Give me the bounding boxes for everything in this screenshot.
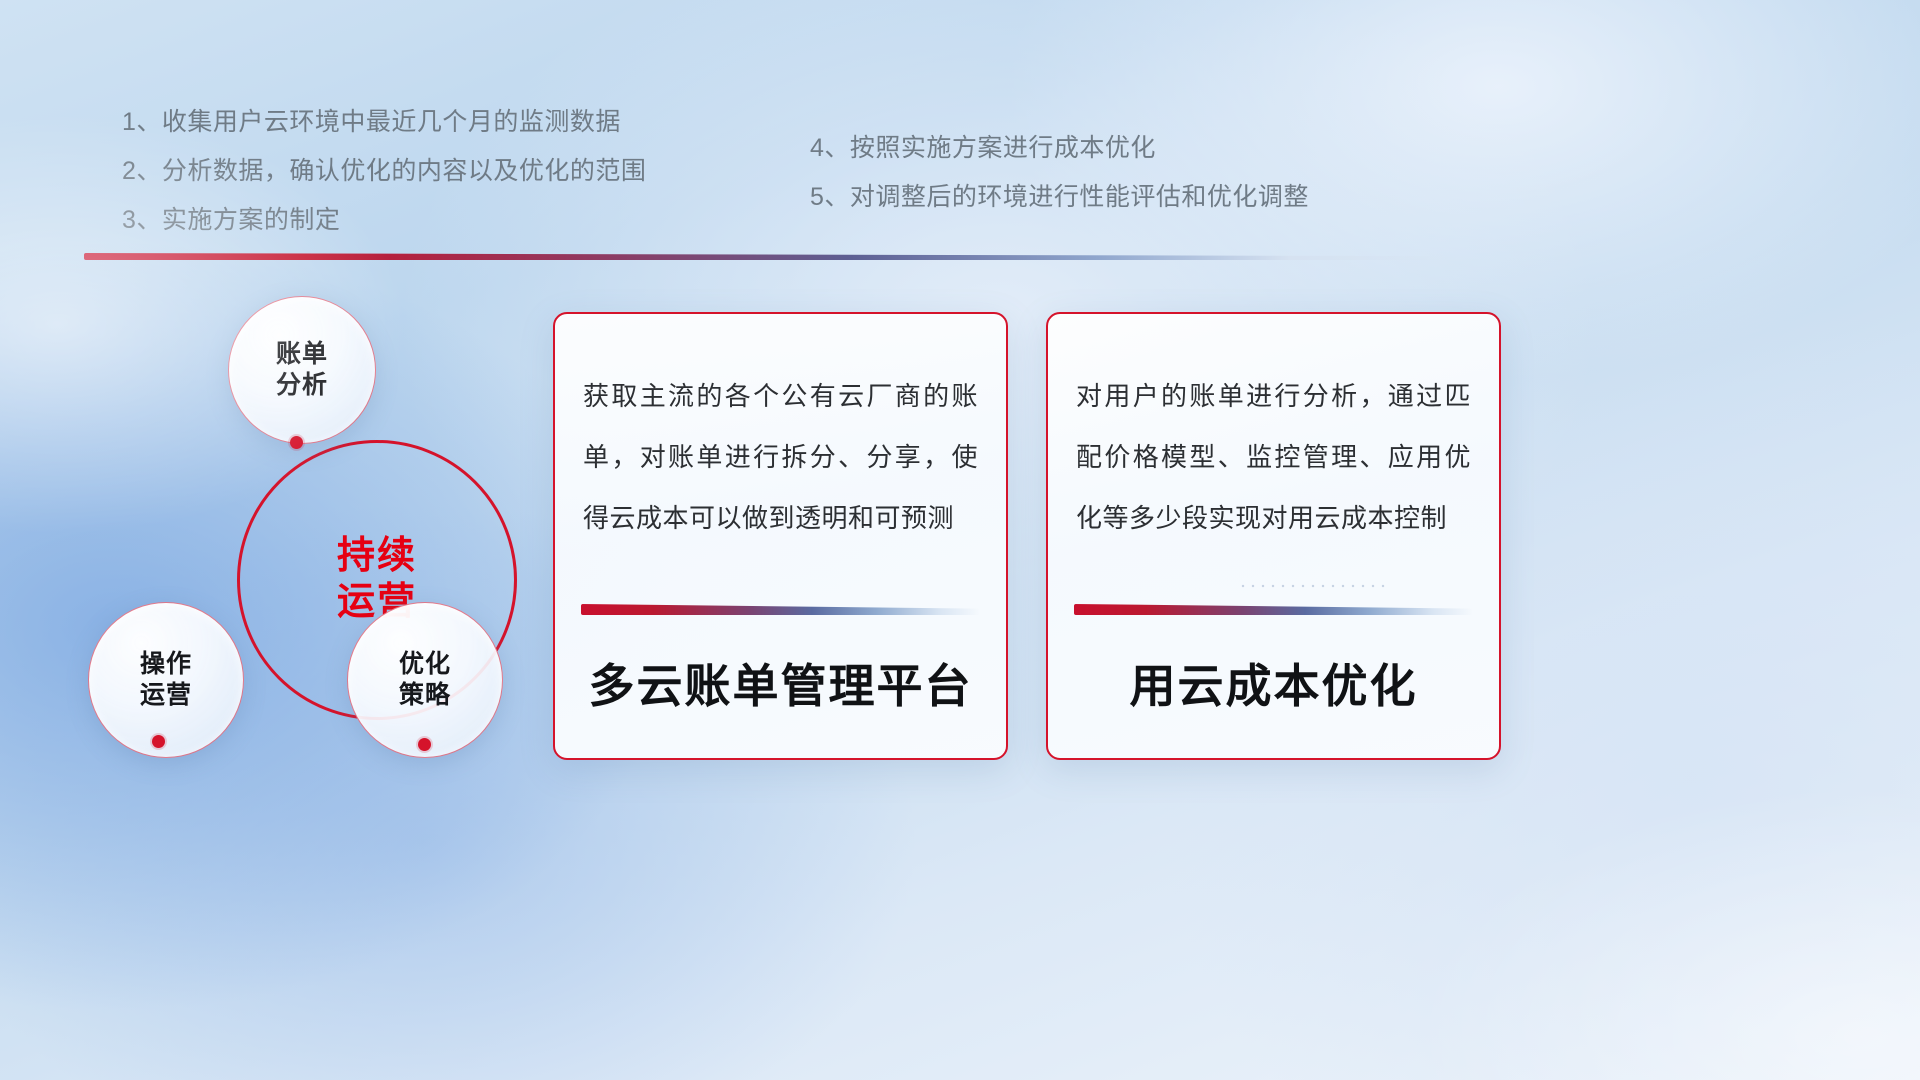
bullet-item-1: 1、收集用户云环境中最近几个月的监测数据 (122, 98, 646, 147)
card-body-text: 获取主流的各个公有云厂商的账单，对账单进行拆分、分享，使得云成本可以做到透明和可… (583, 366, 978, 549)
bullet-item-2: 2、分析数据，确认优化的内容以及优化的范围 (122, 147, 646, 196)
bullet-list-left: 1、收集用户云环境中最近几个月的监测数据 2、分析数据，确认优化的内容以及优化的… (122, 98, 646, 244)
card-divider (1074, 604, 1473, 615)
venn-bubble-bill-analysis[interactable]: 账单 分析 (228, 296, 376, 444)
venn-bubble-optimization-policy[interactable]: 优化 策略 (347, 602, 503, 758)
card-body-text: 对用户的账单进行分析，通过匹配价格模型、监控管理、应用优化等多少段实现对用云成本… (1076, 366, 1471, 549)
connector-dot-top (290, 436, 303, 449)
bullet-list-right: 4、按照实施方案进行成本优化 5、对调整后的环境进行性能评估和优化调整 (810, 124, 1309, 222)
card-title-text: 用云成本优化 (1048, 650, 1499, 716)
bullet-item-4: 4、按照实施方案进行成本优化 (810, 124, 1309, 173)
bubble-label-line-2: 分析 (276, 370, 328, 401)
bullet-item-3: 3、实施方案的制定 (122, 196, 646, 245)
card-divider (581, 604, 980, 615)
section-divider-rule (84, 253, 1454, 260)
bubble-label-line-2: 策略 (399, 680, 451, 711)
venn-diagram: 持续 运营 账单 分析 操作 运营 优化 策略 (80, 290, 550, 770)
connector-dot-right (418, 738, 431, 751)
bubble-label-line-1: 操作 (140, 649, 192, 680)
texture-dots (1238, 582, 1388, 590)
slide-canvas: 1、收集用户云环境中最近几个月的监测数据 2、分析数据，确认优化的内容以及优化的… (0, 0, 1920, 1080)
bubble-label-line-2: 运营 (140, 680, 192, 711)
bullet-item-5: 5、对调整后的环境进行性能评估和优化调整 (810, 173, 1309, 222)
bubble-label-line-1: 账单 (276, 339, 328, 370)
card-title-text: 多云账单管理平台 (555, 650, 1006, 716)
venn-bubble-operation-running[interactable]: 操作 运营 (88, 602, 244, 758)
card-multi-cloud-bill-platform[interactable]: 获取主流的各个公有云厂商的账单，对账单进行拆分、分享，使得云成本可以做到透明和可… (553, 312, 1008, 760)
connector-dot-left (152, 735, 165, 748)
bubble-label-line-1: 优化 (399, 649, 451, 680)
card-cloud-cost-optimization[interactable]: 对用户的账单进行分析，通过匹配价格模型、监控管理、应用优化等多少段实现对用云成本… (1046, 312, 1501, 760)
